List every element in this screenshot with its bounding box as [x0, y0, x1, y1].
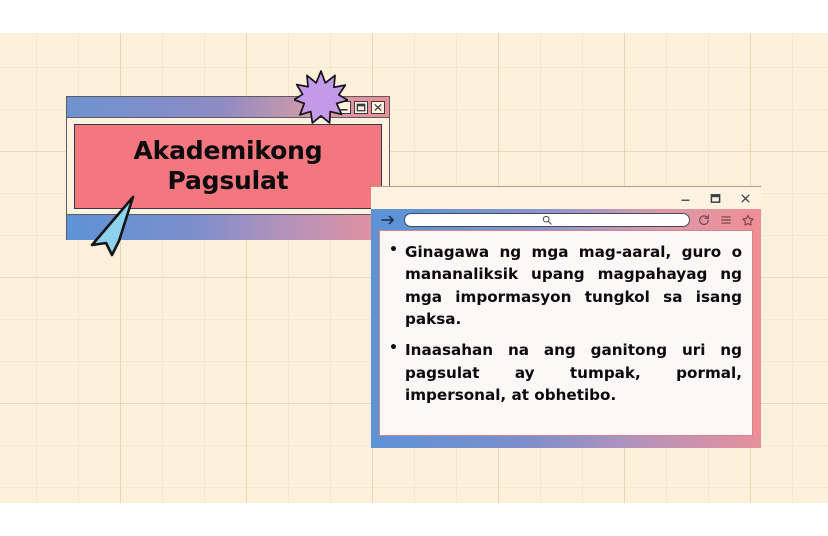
- forward-nav-button[interactable]: [378, 214, 398, 226]
- list-item: Inaasahan na ang ganitong uri ng pagsula…: [388, 339, 742, 406]
- maximize-button[interactable]: [354, 101, 368, 114]
- reload-icon[interactable]: [698, 214, 710, 226]
- mouse-cursor-arrow-icon: [88, 195, 140, 257]
- search-input[interactable]: [405, 214, 689, 226]
- browser-action-icons: [696, 214, 754, 226]
- starburst-icon: [294, 70, 348, 124]
- maximize-icon: [356, 103, 366, 112]
- title-line-1: Akademikong: [134, 136, 323, 165]
- bullet-list: Ginagawa ng mga mag-aaral, guro o manana…: [388, 241, 742, 406]
- browser-minimize-button[interactable]: [679, 192, 692, 205]
- minimize-icon: [680, 193, 691, 204]
- address-search-bar[interactable]: [404, 213, 690, 227]
- maximize-icon: [710, 193, 721, 204]
- close-button[interactable]: [371, 101, 385, 114]
- browser-close-button[interactable]: [739, 192, 752, 205]
- arrow-right-icon: [381, 214, 396, 226]
- browser-content-area: Ginagawa ng mga mag-aaral, guro o manana…: [379, 230, 753, 436]
- page-title: Akademikong Pagsulat: [128, 136, 329, 197]
- slide-canvas: Akademikong Pagsulat: [0, 0, 828, 536]
- menu-icon[interactable]: [720, 214, 732, 226]
- close-icon: [373, 103, 383, 112]
- browser-maximize-button[interactable]: [709, 192, 722, 205]
- browser-toolbar: [371, 209, 761, 230]
- title-line-2: Pagsulat: [168, 166, 289, 195]
- bookmark-star-icon[interactable]: [742, 214, 754, 226]
- list-item: Ginagawa ng mga mag-aaral, guro o manana…: [388, 241, 742, 330]
- browser-titlebar[interactable]: [371, 187, 761, 209]
- browser-footer-bar: [371, 436, 761, 448]
- close-icon: [740, 193, 751, 204]
- browser-window: Ginagawa ng mga mag-aaral, guro o manana…: [371, 186, 761, 448]
